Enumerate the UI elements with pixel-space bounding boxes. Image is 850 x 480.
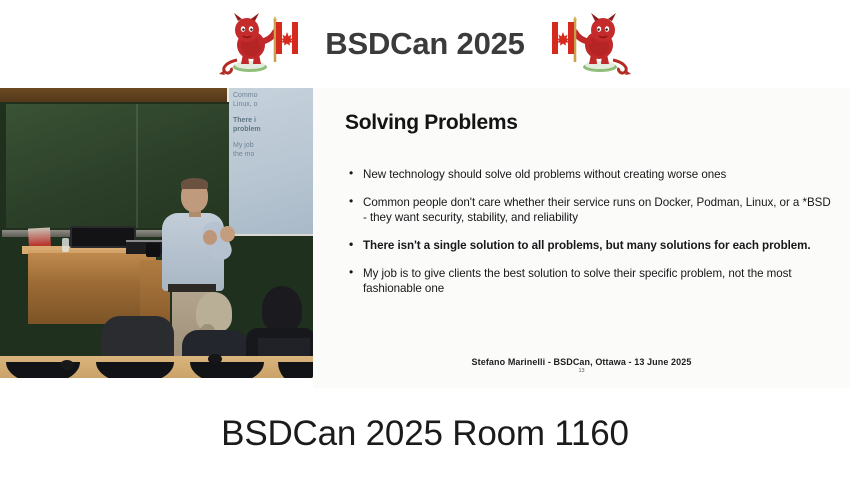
projected-text-line: the mo xyxy=(233,150,310,159)
conference-header-banner: BSDCan 2025 xyxy=(0,0,850,88)
speaker-belt xyxy=(168,284,216,292)
slide-footer: Stefano Marinelli - BSDCan, Ottawa - 13 … xyxy=(313,357,850,374)
slide-bullet-item: There isn't a single solution to all pro… xyxy=(349,238,836,253)
presentation-slide[interactable]: Solving Problems New technology should s… xyxy=(313,88,850,388)
conference-title: BSDCan 2025 xyxy=(325,26,524,62)
speaker-hair xyxy=(181,178,208,189)
screen-root: BSDCan 2025 xyxy=(0,0,850,480)
room-caption: BSDCan 2025 Room 1160 xyxy=(221,414,629,454)
projected-text-gap xyxy=(233,134,310,141)
lectern xyxy=(28,250,156,324)
slide-bullet-item: New technology should solve old problems… xyxy=(349,167,836,182)
projected-text-line: problem xyxy=(233,125,310,134)
desk-mouse xyxy=(60,360,74,370)
projected-text-line: Commo xyxy=(233,91,310,100)
projected-text-line: Linux, o xyxy=(233,100,310,109)
slide-bullet-item: Common people don't care whether their s… xyxy=(349,195,836,225)
bottom-caption-bar: BSDCan 2025 Room 1160 xyxy=(0,388,850,480)
slide-bullet-list: New technology should solve old problems… xyxy=(349,167,836,296)
desk-mouse xyxy=(208,354,222,364)
lecture-hall-camera-feed[interactable]: Commo Linux, o There i problem My job th… xyxy=(0,88,313,388)
projected-text-line: There i xyxy=(233,116,310,125)
slide-bullet-item: My job is to give clients the best solut… xyxy=(349,266,836,296)
projected-text-gap xyxy=(233,109,310,116)
bsd-daemon-with-canadian-flag-icon xyxy=(217,10,303,78)
slide-page-number: 13 xyxy=(313,368,850,374)
audience-member-head xyxy=(262,286,302,332)
desk-front-edge xyxy=(0,378,313,388)
recording-camera xyxy=(146,243,160,257)
projection-screen: Commo Linux, o There i problem My job th… xyxy=(229,88,313,234)
projected-text-line: My job xyxy=(233,141,310,150)
slide-footer-credit: Stefano Marinelli - BSDCan, Ottawa - 13 … xyxy=(313,357,850,367)
speaker-hand xyxy=(220,226,235,242)
bsd-daemon-with-canadian-flag-icon xyxy=(547,10,633,78)
speaker-hand xyxy=(203,230,217,245)
presentation-content-row: Commo Linux, o There i problem My job th… xyxy=(0,88,850,388)
water-bottle xyxy=(62,238,69,252)
slide-title: Solving Problems xyxy=(345,111,836,135)
